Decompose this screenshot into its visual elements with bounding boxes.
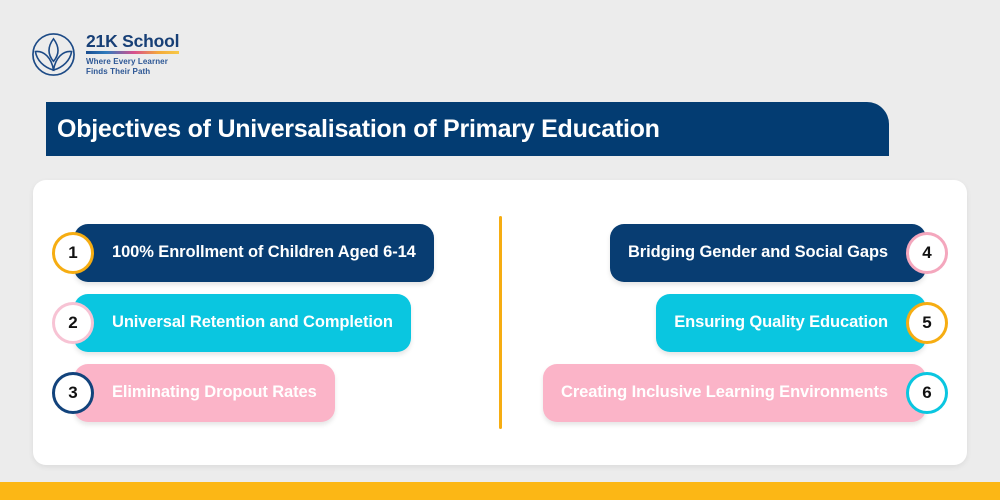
objective-row[interactable]: Eliminating Dropout Rates 3 [52,364,488,422]
logo-gradient-rule [86,51,179,54]
objective-number-badge: 2 [52,302,94,344]
objective-pill[interactable]: Ensuring Quality Education [656,294,926,352]
bottom-accent-bar [0,482,1000,500]
objective-number: 1 [68,244,77,261]
objective-row[interactable]: Universal Retention and Completion 2 [52,294,488,352]
objective-label: Bridging Gender and Social Gaps [628,243,888,262]
objective-number-badge: 4 [906,232,948,274]
objective-row[interactable]: Ensuring Quality Education 5 [512,294,948,352]
objective-number-badge: 3 [52,372,94,414]
page-title: Objectives of Universalisation of Primar… [57,115,660,144]
logo-tagline: Where Every Learner Finds Their Path [86,57,179,77]
objective-pill[interactable]: Eliminating Dropout Rates [74,364,335,422]
objective-label: Creating Inclusive Learning Environments [561,383,888,402]
column-divider [499,216,502,429]
objective-label: Universal Retention and Completion [112,313,393,332]
objective-number: 6 [922,384,931,401]
objectives-card: 100% Enrollment of Children Aged 6-14 1 … [33,180,967,465]
objective-pill[interactable]: Universal Retention and Completion [74,294,411,352]
objective-number-badge: 1 [52,232,94,274]
brand-logo[interactable]: 21K School Where Every Learner Finds The… [30,31,179,78]
objective-pill[interactable]: Creating Inclusive Learning Environments [543,364,926,422]
objective-number: 2 [68,314,77,331]
objective-number: 4 [922,244,931,261]
objective-pill[interactable]: Bridging Gender and Social Gaps [610,224,926,282]
objective-row[interactable]: Bridging Gender and Social Gaps 4 [512,224,948,282]
logo-tagline-line-2: Finds Their Path [86,67,150,76]
objective-number-badge: 5 [906,302,948,344]
objective-label: 100% Enrollment of Children Aged 6-14 [112,243,416,262]
objective-number: 5 [922,314,931,331]
title-banner: Objectives of Universalisation of Primar… [46,102,889,156]
objective-pill[interactable]: 100% Enrollment of Children Aged 6-14 [74,224,434,282]
objectives-columns: 100% Enrollment of Children Aged 6-14 1 … [33,180,967,465]
objective-label: Ensuring Quality Education [674,313,888,332]
objectives-column-right: Bridging Gender and Social Gaps 4 Ensuri… [500,180,967,465]
lotus-circle-icon [30,31,77,78]
objective-label: Eliminating Dropout Rates [112,383,317,402]
objective-row[interactable]: 100% Enrollment of Children Aged 6-14 1 [52,224,488,282]
objectives-column-left: 100% Enrollment of Children Aged 6-14 1 … [33,180,500,465]
logo-wordmark: 21K School [86,32,179,50]
logo-tagline-line-1: Where Every Learner [86,57,168,66]
objective-number: 3 [68,384,77,401]
objective-number-badge: 6 [906,372,948,414]
objective-row[interactable]: Creating Inclusive Learning Environments… [512,364,948,422]
